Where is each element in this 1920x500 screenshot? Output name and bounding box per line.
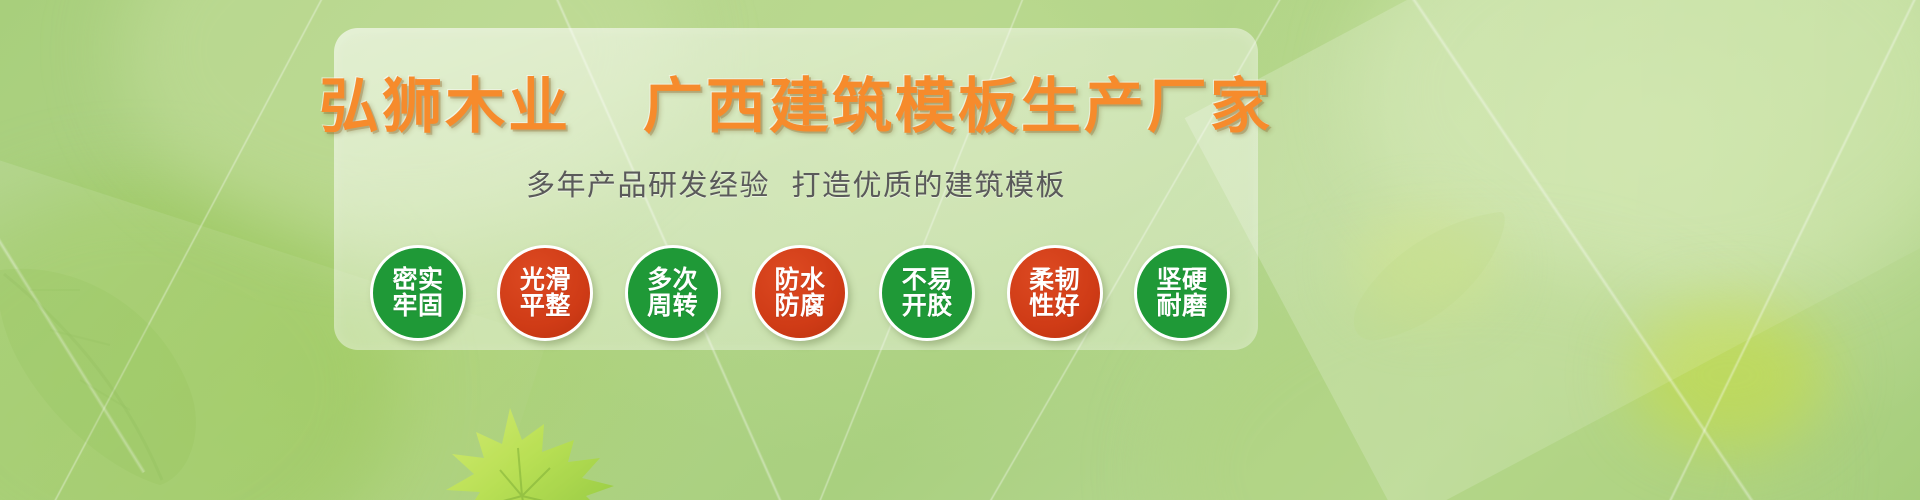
page-subtitle: 多年产品研发经验 打造优质的建筑模板 <box>526 162 1066 204</box>
feature-badge-line2: 开胶 <box>902 293 953 319</box>
feature-badge-line1: 光滑 <box>520 267 571 293</box>
feature-badge[interactable]: 多次 周转 <box>625 245 721 341</box>
feature-badge[interactable]: 柔韧 性好 <box>1007 245 1103 341</box>
title-row: 弘狮木业 广西建筑模板生产厂家 <box>334 62 1258 140</box>
page-title: 弘狮木业 广西建筑模板生产厂家 <box>319 58 1273 145</box>
light-streak <box>1314 0 1810 500</box>
maple-leaf-icon <box>418 400 648 500</box>
feature-badge-line1: 防水 <box>774 267 825 293</box>
feature-badge-line1: 柔韧 <box>1029 267 1080 293</box>
feature-badge-row: 密实 牢固 光滑 平整 多次 周转 防水 防腐 不易 开胶 柔韧 性好 坚硬 耐… <box>370 238 1230 348</box>
background-highlight-blob <box>1630 300 1830 450</box>
feature-badge[interactable]: 光滑 平整 <box>497 245 593 341</box>
feature-badge-line2: 周转 <box>647 293 698 319</box>
feature-badge[interactable]: 坚硬 耐磨 <box>1134 245 1230 341</box>
feature-badge-line1: 密实 <box>392 267 443 293</box>
light-streak <box>0 0 146 474</box>
feature-badge-line2: 防腐 <box>774 293 825 319</box>
feature-badge[interactable]: 密实 牢固 <box>370 245 466 341</box>
background-blob <box>1360 0 1920 300</box>
feature-badge[interactable]: 防水 防腐 <box>752 245 848 341</box>
background-highlight-blob <box>1350 210 1500 320</box>
light-wash <box>1185 0 1920 500</box>
feature-badge-line2: 耐磨 <box>1156 293 1207 319</box>
feature-badge-line1: 不易 <box>902 267 953 293</box>
feature-badge[interactable]: 不易 开胶 <box>879 245 975 341</box>
subtitle-row: 多年产品研发经验 打造优质的建筑模板 <box>334 160 1258 206</box>
feature-badge-line2: 牢固 <box>392 293 443 319</box>
light-streak <box>1630 0 1920 500</box>
promo-banner: 弘狮木业 广西建筑模板生产厂家 多年产品研发经验 打造优质的建筑模板 密实 牢固… <box>0 0 1920 500</box>
leaf-accent-icon <box>1330 200 1510 350</box>
feature-badge-line1: 多次 <box>647 267 698 293</box>
feature-badge-line2: 性好 <box>1029 293 1080 319</box>
feature-badge-line2: 平整 <box>520 293 571 319</box>
feature-badge-line1: 坚硬 <box>1156 267 1207 293</box>
leaf-silhouette-icon <box>0 250 250 490</box>
